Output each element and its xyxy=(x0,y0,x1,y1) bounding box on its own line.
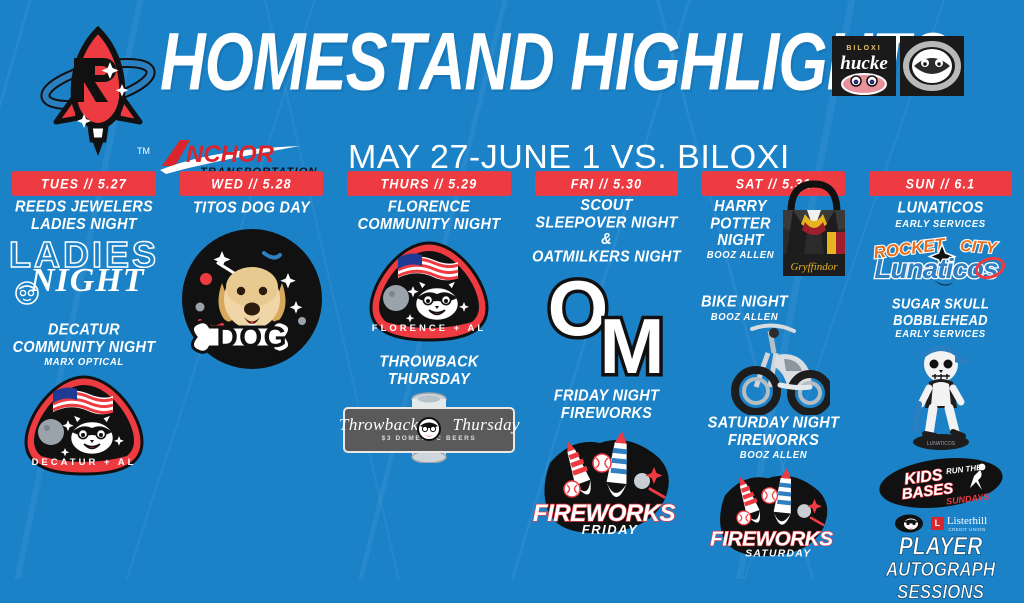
promo-line: COMMUNITY NIGHT xyxy=(341,217,517,234)
promo-line: LADIES NIGHT xyxy=(6,217,162,234)
autograph-sponsor-row: L Listerhill CREDIT UNION xyxy=(861,514,1020,533)
promo-line: THURSDAY xyxy=(341,372,517,389)
promo-line: SLEEPOVER NIGHT xyxy=(529,215,684,232)
promo-line: SCOUT xyxy=(529,198,684,215)
day-header-friday: FRI // 5.30 xyxy=(535,171,678,196)
promo-line: BOBBLEHEAD xyxy=(863,312,1018,328)
trash-pandas-mini-logo xyxy=(894,514,924,533)
promo-line: FRIDAY NIGHT xyxy=(529,388,684,405)
sugar-skull-bobblehead-art: LUNATICOS xyxy=(899,342,983,454)
listerhill-name: Listerhill xyxy=(947,515,987,527)
listerhill-credit-union-logo: L Listerhill CREDIT UNION xyxy=(931,515,987,532)
svg-text:hucke: hucke xyxy=(840,53,888,74)
sponsor-early-services-bobblehead: EARLY SERVICES xyxy=(861,328,1020,340)
promo-title-bike-night: BIKE NIGHT xyxy=(696,294,851,311)
column-sunday: SUN // 6.1 LUNATICOS EARLY SERVICES ROCK… xyxy=(857,168,1024,579)
ladies-night-art: LADIES NIGHT xyxy=(4,238,164,310)
promo-line: TITOS DOG DAY xyxy=(174,200,329,217)
listerhill-mark: L xyxy=(931,517,944,530)
column-friday: FRI // 5.30 SCOUT SLEEPOVER NIGHT & OATM… xyxy=(523,168,690,579)
florence-patch-logo: FLORENCE + AL xyxy=(366,240,492,344)
promo-title-scout-sleepover-oatmilkers: SCOUT SLEEPOVER NIGHT & OATMILKERS NIGHT xyxy=(529,198,684,266)
anchor-wordmark: NCHOR xyxy=(186,141,275,168)
sponsor-booz-allen-fireworks: BOOZ ALLEN xyxy=(694,450,853,462)
decatur-patch-logo: DECATUR + AL xyxy=(21,374,147,478)
om-letter-m: M xyxy=(599,302,664,381)
promo-line: LUNATICOS xyxy=(863,200,1018,217)
promo-line: PLAYER xyxy=(861,535,1020,557)
promo-title-throwback-thursday: THROWBACK THURSDAY xyxy=(341,354,517,388)
gryffindor-cooler-bag: Gryffindor xyxy=(777,170,851,280)
promo-title-florence-community-night: FLORENCE COMMUNITY NIGHT xyxy=(341,199,517,233)
fireworks-day-wordmark: FRIDAY xyxy=(581,522,637,537)
patch-text-decatur: DECATUR + AL xyxy=(32,457,137,468)
promo-title-decatur-community-night: DECATUR COMMUNITY NIGHT xyxy=(6,322,162,356)
promo-line: REEDS JEWELERS xyxy=(6,199,162,216)
promo-title-titos-dog-day: TITOS DOG DAY xyxy=(174,200,329,217)
promo-line: FLORENCE xyxy=(341,199,517,216)
promo-line: SESSIONS xyxy=(861,580,1020,602)
promo-line: & xyxy=(529,232,684,249)
promo-title-friday-night-fireworks: FRIDAY NIGHT FIREWORKS xyxy=(529,388,684,422)
dog-days-logo: DOG DAYS xyxy=(178,225,326,373)
listerhill-sub: CREDIT UNION xyxy=(947,527,987,532)
lunaticos-wordmark-logo: ROCKET CITY Lunaticos xyxy=(866,232,1016,288)
oatmilkers-om-logo: O M xyxy=(527,269,686,386)
fireworks-friday-logo: FIREWORKS FRIDAY xyxy=(532,423,682,539)
fireworks-saturday-logo: FIREWORKS SATURDAY xyxy=(708,461,840,561)
bobblehead-base-label: LUNATICOS xyxy=(926,441,955,447)
promo-line: HARRY POTTER xyxy=(696,199,785,233)
day-header-tuesday: TUES // 5.27 xyxy=(12,171,156,196)
kids-run-the-bases-logo: KIDS RUN THE BASES SUNDAYS xyxy=(876,456,1006,510)
column-saturday: SAT // 5.31 HARRY POTTER NIGHT BOOZ ALLE… xyxy=(690,168,857,579)
column-tuesday: TUES // 5.27 REEDS JEWELERS LADIES NIGHT… xyxy=(0,168,168,579)
sponsor-marx-optical: MARX OPTICAL xyxy=(4,357,164,369)
night-wordmark: NIGHT xyxy=(30,266,164,296)
promo-line: NIGHT xyxy=(696,233,785,250)
day-header-sunday: SUN // 6.1 xyxy=(869,171,1012,196)
promo-columns: TUES // 5.27 REEDS JEWELERS LADIES NIGHT… xyxy=(0,168,1024,579)
day-header-wednesday: WED // 5.28 xyxy=(180,171,323,196)
luna-main-word: Lunaticos xyxy=(874,253,998,284)
promo-line: COMMUNITY NIGHT xyxy=(6,340,162,357)
patch-text-florence: FLORENCE + AL xyxy=(372,323,486,334)
promo-title-player-autograph-sessions: PLAYER AUTOGRAPH SESSIONS xyxy=(861,535,1020,602)
biloxi-shuckers-logo: BILOXI hucke xyxy=(832,36,896,96)
motorcycle-photo xyxy=(718,319,830,415)
trademark-text: TM xyxy=(137,146,150,156)
promo-line: THROWBACK xyxy=(341,354,517,371)
team-logo-rocket-icon: TM xyxy=(36,22,161,162)
day-header-thursday: THURS // 5.29 xyxy=(347,171,511,196)
column-thursday: THURS // 5.29 FLORENCE COMMUNITY NIGHT xyxy=(335,168,523,579)
promo-line: BIKE NIGHT xyxy=(696,294,793,311)
fireworks-wordmark: FIREWORKS xyxy=(710,527,833,550)
promo-line: SUGAR SKULL xyxy=(863,296,1018,312)
promo-line: SATURDAY NIGHT xyxy=(696,415,851,432)
sponsor-early-services-lunaticos: EARLY SERVICES xyxy=(861,218,1020,230)
promo-line: AUTOGRAPH xyxy=(861,558,1020,580)
svg-text:BILOXI: BILOXI xyxy=(846,45,881,52)
gryffindor-label: Gryffindor xyxy=(790,261,838,273)
raccoon-mascot-icon xyxy=(12,278,42,308)
promo-line: DECATUR xyxy=(6,322,162,339)
promo-title-lunaticos: LUNATICOS xyxy=(863,200,1018,217)
fireworks-day-wordmark: SATURDAY xyxy=(745,549,811,560)
column-wednesday: WED // 5.28 TITOS DOG DAY xyxy=(168,168,335,579)
throwback-thursday-logo: ThrowbackThursday $3 DOMESTIC BEERS xyxy=(339,389,519,463)
promo-line: OATMILKERS NIGHT xyxy=(529,249,684,266)
opponent-logos: BILOXI hucke xyxy=(832,36,964,96)
header: TM HOMESTAND HIGHLIGHTS NCHOR TRANSPORTA… xyxy=(0,0,1024,165)
promo-title-ladies-night: REEDS JEWELERS LADIES NIGHT xyxy=(6,199,162,233)
promo-line: FIREWORKS xyxy=(529,406,684,423)
promo-title-sugar-skull-bobblehead: SUGAR SKULL BOBBLEHEAD xyxy=(863,296,1018,328)
shuckers-cap-logo xyxy=(900,36,964,96)
days-wordmark: DAYS xyxy=(231,346,281,365)
promo-line: FIREWORKS xyxy=(696,433,851,450)
promo-title-saturday-night-fireworks: SATURDAY NIGHT FIREWORKS xyxy=(696,415,851,449)
